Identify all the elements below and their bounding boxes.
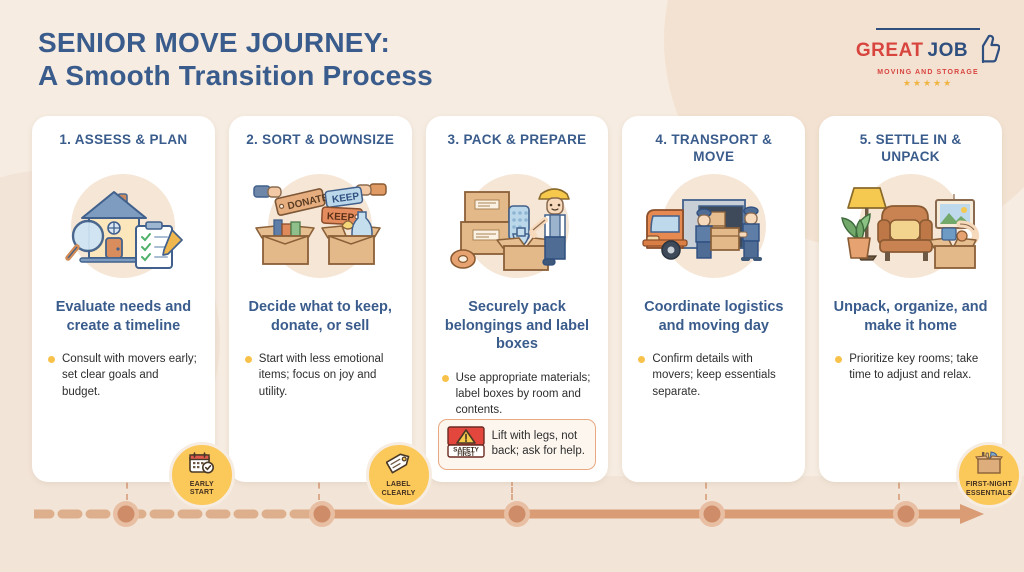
timeline-svg [34, 500, 1004, 528]
armchair-lamp-plant-frame-illustration [836, 170, 986, 282]
thumbs-up-icon [974, 33, 1000, 67]
brand-logo: GREAT JOB MOVING AND STORAGE ★★★★★ [854, 28, 1002, 89]
price-tag-icon [386, 451, 412, 479]
step-bullet: Confirm details with movers; keep essent… [634, 351, 793, 400]
calendar-check-icon [189, 452, 215, 479]
badge-label: EARLYSTART [190, 481, 214, 498]
badge-first-night-essentials[interactable]: FIRST-NIGHTESSENTIALS [956, 442, 1022, 508]
donate-keep-tags-boxes-illustration: DONATE KEEP KEEP [245, 170, 395, 282]
page-title-line1: SENIOR MOVE JOURNEY: [38, 26, 433, 59]
step-bullet: Use appropriate materials; label boxes b… [438, 370, 597, 419]
safety-note-text: Lift with legs, not back; ask for help. [492, 429, 588, 460]
step-card-2[interactable]: 2. SORT & DOWNSIZE DONATE KEEP [229, 116, 412, 482]
timeline-marker [893, 501, 919, 527]
step-card-4[interactable]: 4. TRANSPORT & MOVE [622, 116, 805, 482]
bullet-dot-icon [442, 375, 449, 382]
essentials-box-icon [975, 451, 1003, 479]
bullet-text: Prioritize key rooms; take time to adjus… [849, 351, 986, 384]
step-title: 3. PACK & PREPARE [448, 132, 587, 166]
svg-text:FIRST: FIRST [457, 452, 475, 458]
step-card-5[interactable]: 5. SETTLE IN & UNPACK [819, 116, 1002, 482]
logo-word-job: JOB [928, 41, 969, 60]
bullet-text: Start with less emotional items; focus o… [259, 351, 396, 400]
badge-label-clearly[interactable]: LABELCLEARLY [366, 442, 432, 508]
timeline [34, 500, 1004, 528]
step-bullet: Prioritize key rooms; take time to adjus… [831, 351, 990, 384]
step-bullet: Start with less emotional items; focus o… [241, 351, 400, 400]
house-magnifier-clipboard-illustration [48, 170, 198, 282]
bullet-dot-icon [48, 356, 55, 363]
logo-word-great: GREAT [856, 41, 924, 60]
step-bullet: Consult with movers early; set clear goa… [44, 351, 203, 400]
badge-label: FIRST-NIGHTESSENTIALS [966, 481, 1012, 498]
connector-3 [511, 480, 513, 500]
step-title: 2. SORT & DOWNSIZE [246, 132, 394, 166]
page-title-line2: A Smooth Transition Process [38, 59, 433, 92]
page-title: SENIOR MOVE JOURNEY: A Smooth Transition… [38, 26, 433, 92]
bullet-text: Use appropriate materials; label boxes b… [456, 370, 593, 419]
safety-note[interactable]: SAFETY FIRST Lift with legs, not back; a… [438, 419, 597, 470]
badge-early-start[interactable]: EARLYSTART [169, 442, 235, 508]
moving-truck-movers-illustration [639, 170, 789, 282]
badge-label: LABELCLEARLY [382, 481, 416, 498]
step-headline: Securely pack belongings and label boxes [438, 298, 597, 354]
logo-rule [876, 28, 980, 30]
step-headline: Unpack, organize, and make it home [831, 298, 990, 335]
step-title: 5. SETTLE IN & UNPACK [831, 132, 990, 166]
steps-row: 1. ASSESS & PLAN [32, 116, 1002, 482]
bullet-dot-icon [638, 356, 645, 363]
logo-stars: ★★★★★ [854, 78, 1002, 89]
logo-tagline: MOVING AND STORAGE [854, 69, 1002, 76]
timeline-marker [504, 501, 530, 527]
timeline-marker [113, 501, 139, 527]
logo-wordmark: GREAT JOB [854, 33, 1002, 67]
safety-first-warning-icon: SAFETY FIRST [447, 426, 485, 463]
step-title: 1. ASSESS & PLAN [59, 132, 187, 166]
step-title: 4. TRANSPORT & MOVE [634, 132, 793, 166]
step-card-1[interactable]: 1. ASSESS & PLAN [32, 116, 215, 482]
bullet-text: Confirm details with movers; keep essent… [652, 351, 789, 400]
bullet-text: Consult with movers early; set clear goa… [62, 351, 199, 400]
boxes-packer-bubblewrap-illustration [442, 170, 592, 282]
step-headline: Evaluate needs and create a timeline [44, 298, 203, 335]
bullet-dot-icon [245, 356, 252, 363]
step-headline: Coordinate logistics and moving day [634, 298, 793, 335]
step-card-3[interactable]: 3. PACK & PREPARE [426, 116, 609, 482]
step-headline: Decide what to keep, donate, or sell [241, 298, 400, 335]
timeline-marker [699, 501, 725, 527]
bullet-dot-icon [835, 356, 842, 363]
timeline-marker [309, 501, 335, 527]
